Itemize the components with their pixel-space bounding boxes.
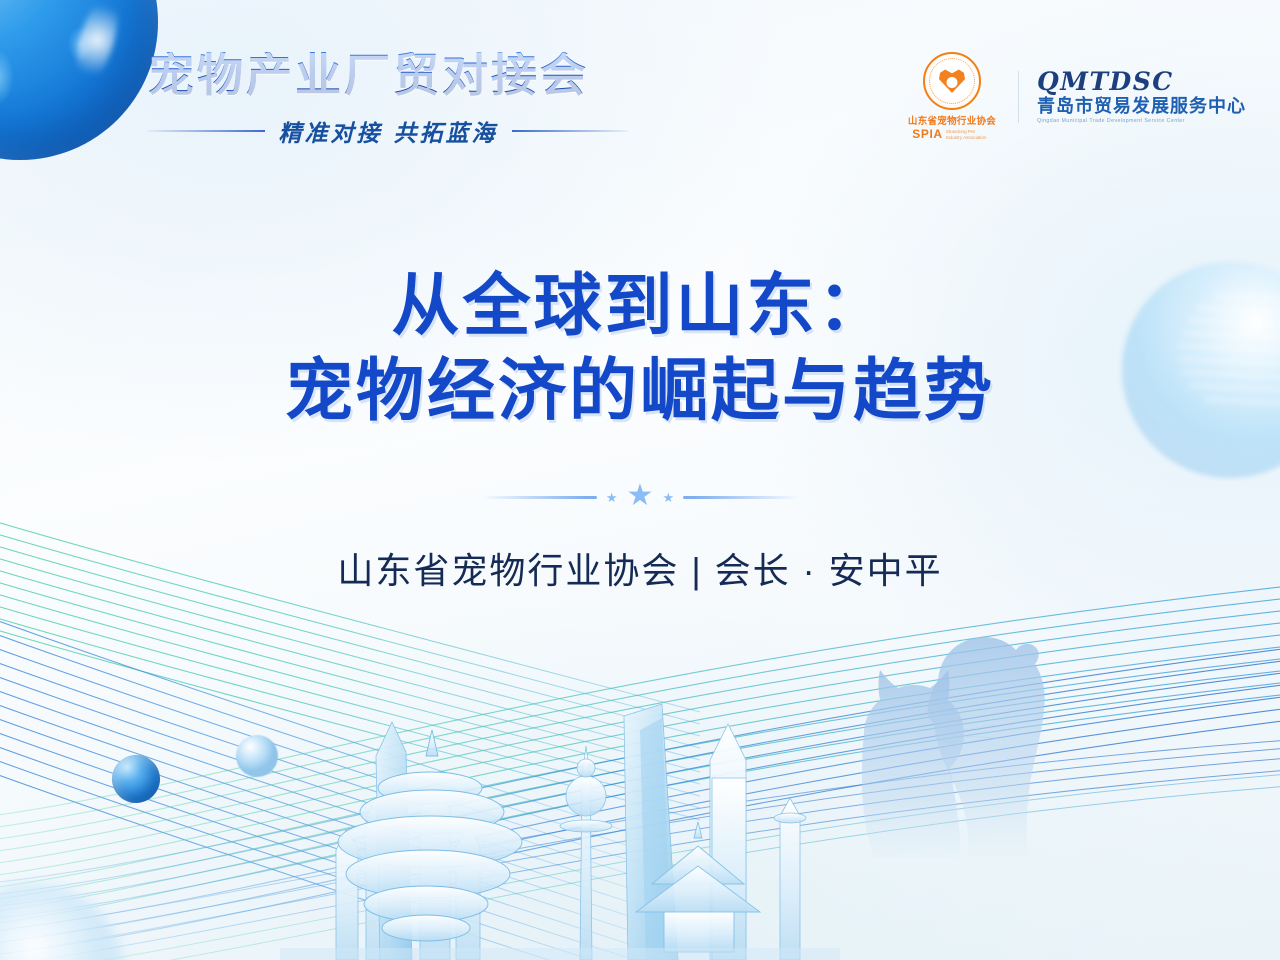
star-icon-right: ★ [662,491,674,504]
event-brand: 宠物产业厂贸对接会 精准对接 共拓蓝海 [148,52,648,148]
logo-qmtdsc: QMTDSC 青岛市贸易发展服务中心 Qingdao Municipal Tra… [1037,69,1246,124]
page-title-line-2: 宠物经济的崛起与趋势 [0,349,1280,435]
logo-group: 山东省宠物行业协会 SPIA Shandong Pet Industry Ass… [904,52,1246,141]
decorative-divider: ★ ★ ★ [481,480,799,514]
event-brand-title: 宠物产业厂贸对接会 [148,52,648,98]
spia-abbr: SPIA [912,127,942,141]
slide-header: 宠物产业厂贸对接会 精准对接 共拓蓝海 山东省宠物行业协会 SPIA Shand… [0,0,1280,180]
divider-rule-left [481,496,597,499]
sphere-shape-small [236,735,278,777]
spia-name-en: Shandong Pet Industry Association [946,129,992,141]
event-brand-tagline: 精准对接 共拓蓝海 [279,114,498,148]
spia-abbr-row: SPIA Shandong Pet Industry Association [912,127,991,141]
qmtdsc-name-en: Qingdao Municipal Trade Development Serv… [1037,118,1185,124]
divider-rule-right [683,496,799,499]
logo-divider [1018,71,1019,123]
city-skyline-illustration [280,660,840,960]
qmtdsc-name-cn: 青岛市贸易发展服务中心 [1037,97,1246,115]
title-slide: 宠物产业厂贸对接会 精准对接 共拓蓝海 山东省宠物行业协会 SPIA Shand… [0,0,1280,960]
event-brand-tagline-row: 精准对接 共拓蓝海 [148,114,628,148]
star-icon-center: ★ [627,481,654,511]
spia-emblem-icon [923,52,981,110]
presenter-line: 山东省宠物行业协会 | 会长 · 安中平 [0,542,1280,594]
logo-spia: 山东省宠物行业协会 SPIA Shandong Pet Industry Ass… [904,52,1000,141]
cat-and-dog-silhouettes [830,608,1080,868]
page-title: 从全球到山东： 宠物经济的崛起与趋势 [0,264,1280,435]
spia-name-cn: 山东省宠物行业协会 [908,113,996,127]
slide-content: 从全球到山东： 宠物经济的崛起与趋势 ★ ★ ★ 山东省宠物行业协会 | 会长 … [0,218,1280,594]
tagline-rule-left [148,130,265,132]
sphere-shape-bottom-left [0,884,124,960]
globe-icon-small [112,755,160,803]
pet-heart-icon [939,69,965,93]
star-icon-left: ★ [606,491,618,504]
tagline-rule-right [512,130,629,132]
page-title-line-1: 从全球到山东： [0,264,1280,350]
qmtdsc-abbr: QMTDSC [1037,69,1174,94]
